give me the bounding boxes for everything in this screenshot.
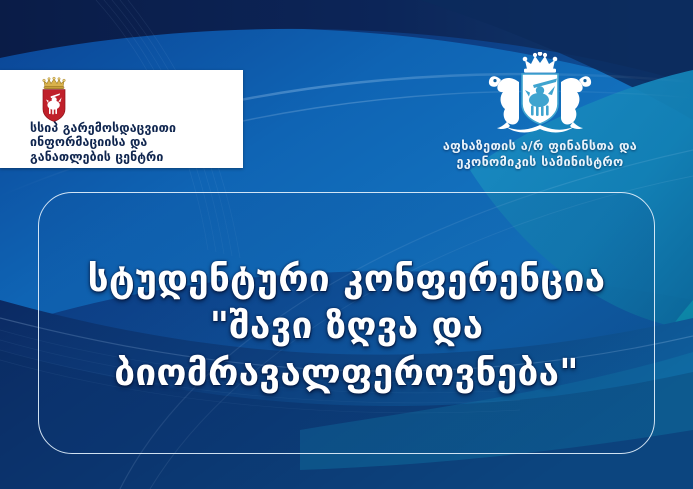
right-lion-supporter [561, 76, 591, 129]
crown-icon [523, 52, 558, 73]
crown-element [43, 77, 66, 89]
georgian-city-coat-of-arms-emblem [38, 76, 70, 122]
environmental-center-name: სსიპ გარემოსდაცვითი ინფორმაციისა და განა… [30, 121, 235, 164]
ministry-name: აფხაზეთის ა/რ ფინანსთა და ეკონომიკის სამ… [400, 138, 680, 170]
conference-title: სტუდენტური კონფერენცია "შავი ზღვა და ბიო… [39, 255, 654, 396]
environmental-center-logo-box: სსიპ გარემოსდაცვითი ინფორმაციისა და განა… [0, 70, 243, 168]
ribbon-scroll [505, 125, 575, 132]
georgia-national-coat-of-arms [477, 52, 603, 134]
ministry-block: აფხაზეთის ა/რ ფინანსთა და ეკონომიკის სამ… [400, 52, 680, 170]
red-shield [43, 90, 65, 122]
central-shield [522, 74, 558, 124]
left-lion-supporter [489, 76, 519, 129]
conference-poster: სსიპ გარემოსდაცვითი ინფორმაციისა და განა… [0, 0, 693, 489]
title-panel: სტუდენტური კონფერენცია "შავი ზღვა და ბიო… [38, 192, 655, 454]
